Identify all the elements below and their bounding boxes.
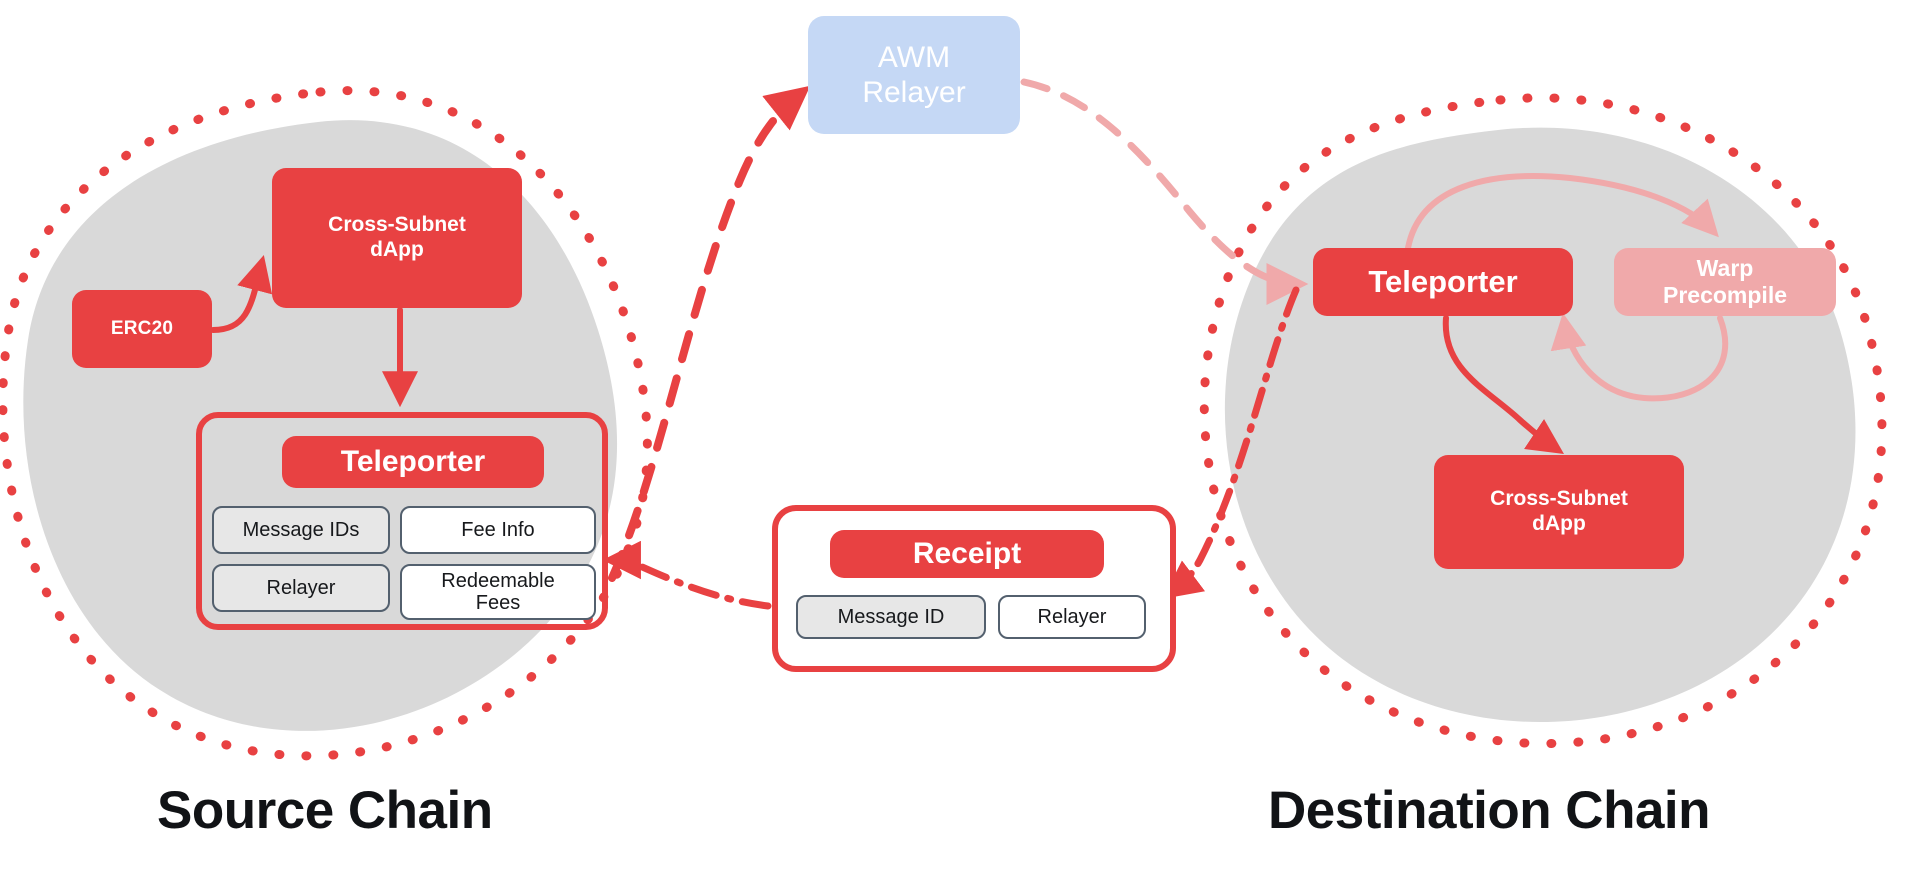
warp-precompile-line1: Warp	[1697, 255, 1754, 281]
diagram-canvas: ERC20 Cross-Subnet dApp Teleporter Messa…	[0, 0, 1920, 892]
redeemable-fees-line2: Fees	[476, 592, 520, 614]
edge-awm-relayer-to-dst-teleporter	[1024, 82, 1300, 284]
field-relayer[interactable]: Relayer	[212, 564, 390, 612]
node-awm-relayer[interactable]: AWM Relayer	[808, 16, 1020, 134]
edge-receipt-to-src-teleporter	[614, 560, 768, 606]
destination-dapp-line1: Cross-Subnet	[1490, 487, 1628, 510]
field-receipt-relayer[interactable]: Relayer	[998, 595, 1146, 639]
source-chain-label: Source Chain	[157, 780, 493, 841]
edge-teleporter-to-awm-relayer	[612, 94, 800, 578]
node-destination-cross-subnet-dapp[interactable]: Cross-Subnet dApp	[1434, 455, 1684, 569]
node-warp-precompile[interactable]: Warp Precompile	[1614, 248, 1836, 316]
awm-relayer-line1: AWM	[878, 41, 950, 74]
field-fee-info[interactable]: Fee Info	[400, 506, 596, 554]
node-destination-teleporter[interactable]: Teleporter	[1313, 248, 1573, 316]
node-erc20[interactable]: ERC20	[72, 290, 212, 368]
field-message-ids[interactable]: Message IDs	[212, 506, 390, 554]
destination-dapp-line2: dApp	[1532, 512, 1586, 535]
source-dapp-line1: Cross-Subnet	[328, 213, 466, 236]
warp-precompile-line2: Precompile	[1663, 282, 1787, 308]
awm-relayer-line2: Relayer	[862, 76, 965, 109]
destination-chain-label: Destination Chain	[1268, 780, 1710, 841]
node-source-cross-subnet-dapp[interactable]: Cross-Subnet dApp	[272, 168, 522, 308]
field-message-id[interactable]: Message ID	[796, 595, 986, 639]
destination-chain-blob-fill	[1225, 128, 1856, 722]
redeemable-fees-line1: Redeemable	[441, 570, 554, 592]
source-dapp-line2: dApp	[370, 238, 424, 261]
field-redeemable-fees[interactable]: Redeemable Fees	[400, 564, 596, 620]
receipt-title[interactable]: Receipt	[830, 530, 1104, 578]
source-teleporter-title[interactable]: Teleporter	[282, 436, 544, 488]
